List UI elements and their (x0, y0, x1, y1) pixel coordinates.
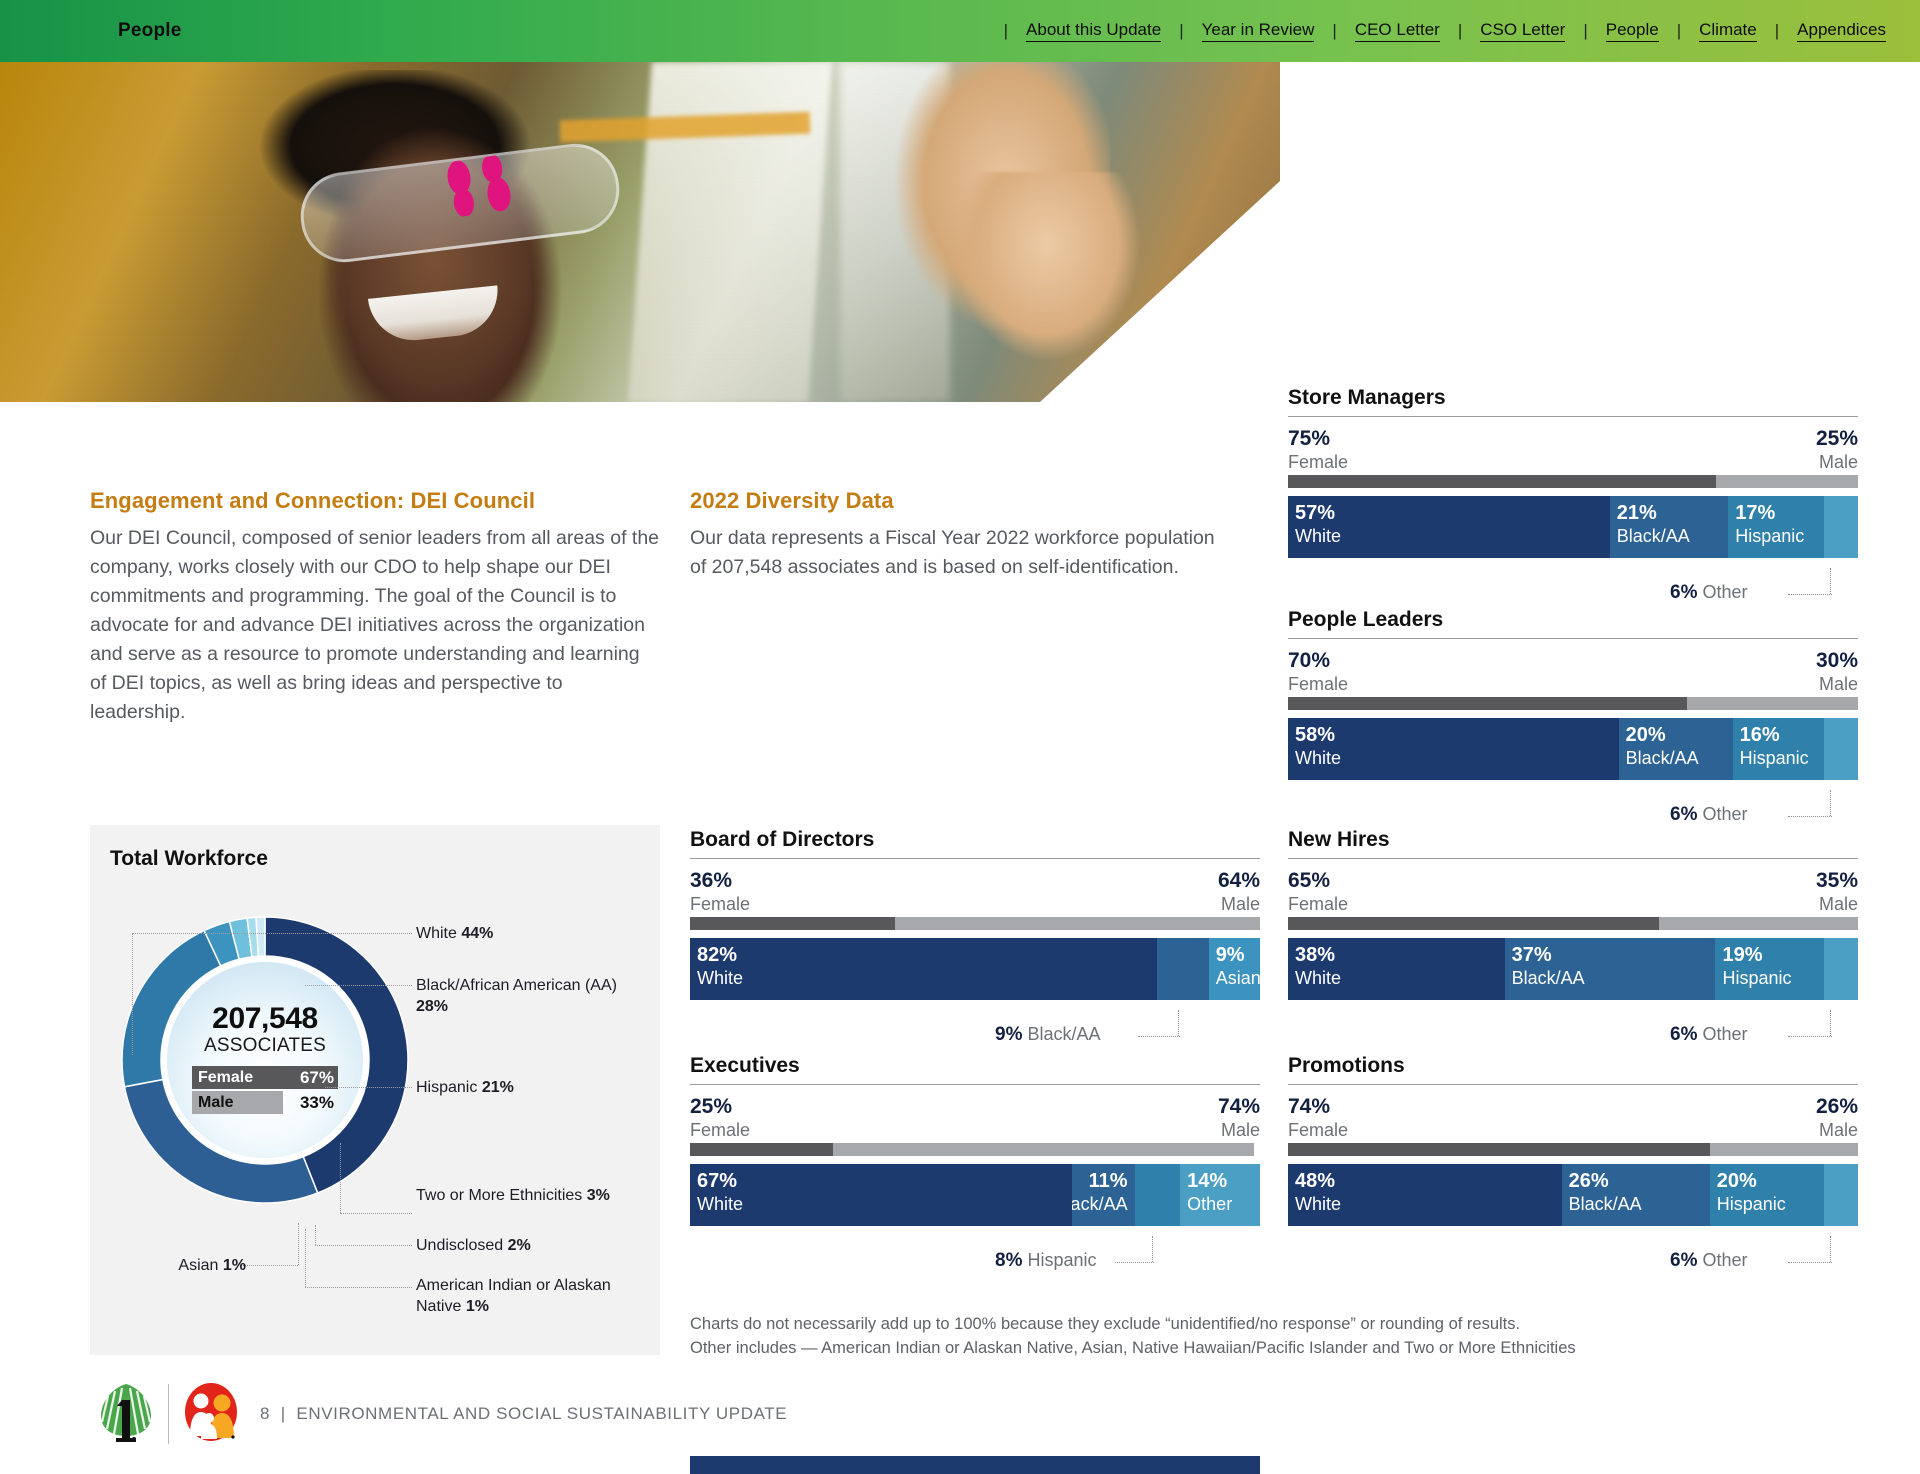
board-gender-bar-female (690, 917, 895, 930)
store-managers-male-pct: 25% (1816, 427, 1858, 451)
store-managers-gender-bar-male (1716, 475, 1859, 488)
people-leaders-black-aa-label: Black/AA (1626, 747, 1699, 769)
footer-page-number: 8 (260, 1404, 270, 1423)
executives-callout-line (1115, 1262, 1154, 1263)
pie-label-two-or-more: Two or More Ethnicities 3% (416, 1185, 616, 1206)
new-hires-gender-bar-male (1659, 917, 1859, 930)
new-hires-segment-white: 38% White (1288, 938, 1505, 1000)
board-female-label: Female (690, 893, 750, 915)
executives-gender-bar-male (833, 1143, 1255, 1156)
store-managers-callout-vline (1830, 568, 1831, 594)
gender-row-male: Male 33% (192, 1091, 338, 1114)
diversity-data-body: Our data represents a Fiscal Year 2022 w… (690, 524, 1220, 582)
new-hires-ethnicity-bar: 38% White 37% Black/AA 19% Hispanic (1288, 938, 1858, 1000)
promotions-ethnicity-bar: 48% White 26% Black/AA 20% Hispanic (1288, 1164, 1858, 1226)
promotions-segment-white: 48% White (1288, 1164, 1562, 1226)
promotions-female: 74% Female (1288, 1095, 1348, 1141)
promotions-gender-header: 74% Female 26% Male (1288, 1095, 1858, 1143)
new-hires-hispanic-label: Hispanic (1722, 967, 1791, 989)
people-leaders-segment-black-aa: 20% Black/AA (1619, 718, 1733, 780)
nav-separator: | (1677, 21, 1681, 41)
leader-line-hispanic (325, 1087, 412, 1088)
people-leaders-gender-header: 70% Female 30% Male (1288, 649, 1858, 697)
people-leaders-male-pct: 30% (1816, 649, 1858, 673)
people-leaders-black-aa-pct: 20% (1626, 724, 1666, 746)
executives-male-pct: 74% (1218, 1095, 1260, 1119)
total-workforce-panel: Total Workforce 207,548 ASSOCIATES Femal… (90, 825, 660, 1355)
board-gender-header: 36% Female 64% Male (690, 869, 1260, 917)
new-hires-male: 35% Male (1816, 869, 1858, 915)
board-female-pct: 36% (690, 869, 750, 893)
people-leaders-hispanic-label: Hispanic (1740, 747, 1809, 769)
store-managers-gender-header: 75% Female 25% Male (1288, 427, 1858, 475)
pie-label-asian: Asian 1% (156, 1255, 246, 1276)
page-footer: 8 | ENVIRONMENTAL AND SOCIAL SUSTAINABIL… (0, 1374, 1920, 1474)
executives-gender-bar (690, 1143, 1260, 1156)
nav-separator: | (1004, 21, 1008, 41)
divider (690, 1084, 1260, 1085)
new-hires-white-pct: 38% (1295, 944, 1335, 966)
promotions-callout-line (1788, 1262, 1832, 1263)
store-managers-callout: 6% Other (1670, 582, 1748, 604)
pie-label-white: White 44% (416, 923, 646, 944)
promotions-gender-bar-female (1288, 1143, 1710, 1156)
new-hires-black-aa-pct: 37% (1512, 944, 1552, 966)
pie-label-black-aa-value: 28% (416, 998, 448, 1015)
promotions-segment-other (1824, 1164, 1858, 1226)
leader-line-undisclosed (315, 1245, 412, 1246)
pie-label-hispanic-value: 21% (482, 1079, 514, 1096)
store-managers-female: 75% Female (1288, 427, 1348, 473)
executives-title: Executives (690, 1054, 1260, 1078)
promotions-white-label: White (1295, 1193, 1341, 1215)
leader-line-two-or-more (340, 1213, 412, 1214)
promotions-callout-pct: 6% (1670, 1250, 1697, 1271)
people-leaders-gender-bar (1288, 697, 1858, 710)
store-managers-gender-bar-female (1288, 475, 1716, 488)
people-leaders-callout-pct: 6% (1670, 804, 1697, 825)
nav-links: | About this Update | Year in Review | C… (996, 20, 1896, 42)
store-managers-white-label: White (1295, 525, 1341, 547)
people-leaders-segment-white: 58% White (1288, 718, 1619, 780)
pie-label-asian-value: 1% (223, 1257, 246, 1274)
board-male-label: Male (1218, 893, 1260, 915)
footer-accent-bar (690, 1456, 1260, 1474)
promotions-segment-black-aa: 26% Black/AA (1562, 1164, 1710, 1226)
people-leaders-male: 30% Male (1816, 649, 1858, 695)
people-leaders-male-label: Male (1816, 673, 1858, 695)
promotions-gender-bar (1288, 1143, 1858, 1156)
nav-separator: | (1775, 21, 1779, 41)
new-hires-callout-label: Other (1702, 1024, 1747, 1044)
executives-callout-label: Hispanic (1027, 1250, 1096, 1270)
new-hires-male-pct: 35% (1816, 869, 1858, 893)
pie-label-black-aa: Black/African American (AA) 28% (416, 975, 631, 1017)
leader-line-asian-vertical (298, 1223, 299, 1265)
footer-separator: | (281, 1404, 286, 1423)
nav-separator: | (1458, 21, 1462, 41)
executives-segment-hispanic (1135, 1164, 1181, 1226)
store-managers-hispanic-pct: 17% (1735, 502, 1775, 524)
executives-other-pct: 14% (1187, 1170, 1227, 1192)
executives-callout-vline (1152, 1236, 1153, 1262)
new-hires-callout-pct: 6% (1670, 1024, 1697, 1045)
new-hires-title: New Hires (1288, 828, 1858, 852)
new-hires-segment-black-aa: 37% Black/AA (1505, 938, 1716, 1000)
store-managers-callout-pct: 6% (1670, 582, 1697, 603)
executives-white-pct: 67% (697, 1170, 737, 1192)
leader-line-white-vertical (132, 933, 133, 1055)
promotions-male-label: Male (1816, 1119, 1858, 1141)
people-leaders-white-pct: 58% (1295, 724, 1335, 746)
new-hires-callout-line (1788, 1036, 1832, 1037)
people-leaders-female-pct: 70% (1288, 649, 1348, 673)
people-leaders-gender-bar-female (1288, 697, 1687, 710)
board-callout-pct: 9% (995, 1024, 1022, 1045)
store-managers-male: 25% Male (1816, 427, 1858, 473)
executives-white-label: White (697, 1193, 743, 1215)
people-leaders-female: 70% Female (1288, 649, 1348, 695)
pie-label-undisclosed-value: 2% (508, 1237, 531, 1254)
store-managers-black-aa-pct: 21% (1617, 502, 1657, 524)
executives-black-aa-pct: 11% (1089, 1170, 1128, 1192)
store-managers-segment-other (1824, 496, 1858, 558)
hero-worker-arm (955, 172, 1185, 402)
promotions-female-pct: 74% (1288, 1095, 1348, 1119)
footnote-line-2: Other includes — American Indian or Alas… (690, 1336, 1690, 1360)
donut-center-label: 207,548 ASSOCIATES Female 67% Male 33% (167, 962, 363, 1158)
nav-brand-label: People (118, 20, 182, 42)
nav-separator: | (1332, 21, 1336, 41)
pie-label-asian-name: Asian (178, 1257, 218, 1274)
board-of-directors-block: Board of Directors 36% Female 64% Male 8… (690, 828, 1260, 1000)
family-logo-icon (182, 1382, 240, 1444)
nav-link-year-in-review[interactable]: Year in Review (1202, 20, 1315, 42)
pie-label-american-indian: American Indian or Alaskan Native 1% (416, 1275, 621, 1317)
board-segment-asian: 9% Asian (1209, 938, 1260, 1000)
people-leaders-callout-label: Other (1702, 804, 1747, 824)
executives-ethnicity-bar: 67% White 11% Black/AA 14% Other (690, 1164, 1260, 1226)
board-segment-white: 82% White (690, 938, 1157, 1000)
new-hires-male-label: Male (1816, 893, 1858, 915)
leader-line-black-aa (305, 985, 412, 986)
nav-link-cso-letter[interactable]: CSO Letter (1480, 20, 1565, 42)
board-white-label: White (697, 967, 743, 989)
nav-link-appendices[interactable]: Appendices (1797, 20, 1886, 42)
board-segment-black-aa (1157, 938, 1208, 1000)
executives-segment-black-aa: 11% Black/AA (1072, 1164, 1135, 1226)
new-hires-gender-header: 65% Female 35% Male (1288, 869, 1858, 917)
pie-label-two-or-more-value: 3% (587, 1187, 610, 1204)
pink-bow-decoration (444, 154, 513, 218)
people-leaders-female-label: Female (1288, 673, 1348, 695)
executives-gender-header: 25% Female 74% Male (690, 1095, 1260, 1143)
promotions-segment-hispanic: 20% Hispanic (1710, 1164, 1824, 1226)
new-hires-female-pct: 65% (1288, 869, 1348, 893)
store-managers-female-pct: 75% (1288, 427, 1348, 451)
nav-link-climate[interactable]: Climate (1699, 20, 1757, 42)
people-leaders-white-label: White (1295, 747, 1341, 769)
promotions-male-pct: 26% (1816, 1095, 1858, 1119)
store-managers-female-label: Female (1288, 451, 1348, 473)
nav-link-people[interactable]: People (1606, 20, 1659, 42)
gender-row-female: Female 67% (192, 1066, 338, 1089)
donut-slice (256, 917, 265, 956)
store-managers-title: Store Managers (1288, 386, 1858, 410)
executives-segment-other: 14% Other (1180, 1164, 1260, 1226)
dei-council-body: Our DEI Council, composed of senior lead… (90, 524, 660, 727)
new-hires-white-label: White (1295, 967, 1341, 989)
executives-male: 74% Male (1218, 1095, 1260, 1141)
board-callout-line (1138, 1036, 1180, 1037)
board-gender-bar (690, 917, 1260, 930)
store-managers-gender-bar (1288, 475, 1858, 488)
divider (1288, 1084, 1858, 1085)
female-label: Female (192, 1069, 253, 1087)
executives-female-pct: 25% (690, 1095, 750, 1119)
store-managers-callout-line (1788, 594, 1832, 595)
leader-line-american-indian (305, 1287, 412, 1288)
board-gender-bar-male (895, 917, 1260, 930)
executives-gender-bar-female (690, 1143, 833, 1156)
new-hires-female-label: Female (1288, 893, 1348, 915)
people-leaders-segment-hispanic: 16% Hispanic (1733, 718, 1824, 780)
chart-footnotes: Charts do not necessarily add up to 100%… (690, 1312, 1690, 1360)
board-callout-label: Black/AA (1027, 1024, 1100, 1044)
promotions-white-pct: 48% (1295, 1170, 1335, 1192)
executives-block: Executives 25% Female 74% Male 67% White… (690, 1054, 1260, 1226)
total-workforce-donut: 207,548 ASSOCIATES Female 67% Male 33% (120, 915, 410, 1205)
divider (1288, 638, 1858, 639)
new-hires-gender-bar (1288, 917, 1858, 930)
nav-link-ceo-letter[interactable]: CEO Letter (1355, 20, 1440, 42)
top-navigation-bar: People | About this Update | Year in Rev… (0, 0, 1920, 62)
store-managers-hispanic-label: Hispanic (1735, 525, 1804, 547)
new-hires-block: New Hires 65% Female 35% Male 38% White … (1288, 828, 1858, 1000)
executives-male-label: Male (1218, 1119, 1260, 1141)
gender-breakdown: Female 67% Male 33% (192, 1066, 338, 1116)
people-leaders-block: People Leaders 70% Female 30% Male 58% W… (1288, 608, 1858, 780)
footnote-line-1: Charts do not necessarily add up to 100%… (690, 1312, 1690, 1336)
leader-line-asian (240, 1265, 298, 1266)
board-callout-vline (1178, 1010, 1179, 1036)
nav-separator: | (1179, 21, 1183, 41)
people-leaders-title: People Leaders (1288, 608, 1858, 632)
executives-female: 25% Female (690, 1095, 750, 1141)
pie-label-american-indian-name: American Indian or Alaskan Native (416, 1277, 611, 1315)
male-label: Male (192, 1094, 234, 1112)
pie-label-undisclosed: Undisclosed 2% (416, 1235, 631, 1256)
leader-line-american-indian-vertical (305, 1229, 306, 1287)
new-hires-black-aa-label: Black/AA (1512, 967, 1585, 989)
tree-logo-icon (98, 1382, 154, 1444)
board-ethnicity-bar: 82% White 9% Asian (690, 938, 1260, 1000)
divider (690, 858, 1260, 859)
promotions-hispanic-label: Hispanic (1717, 1193, 1786, 1215)
store-managers-callout-label: Other (1702, 582, 1747, 602)
new-hires-hispanic-pct: 19% (1722, 944, 1762, 966)
leader-line-two-or-more-vertical (340, 1143, 341, 1213)
executives-other-label: Other (1187, 1193, 1232, 1215)
promotions-gender-bar-male (1710, 1143, 1858, 1156)
store-managers-black-aa-label: Black/AA (1617, 525, 1690, 547)
divider (1288, 858, 1858, 859)
promotions-block: Promotions 74% Female 26% Male 48% White… (1288, 1054, 1858, 1226)
executives-black-aa-label: Black/AA (1072, 1193, 1128, 1215)
store-managers-white-pct: 57% (1295, 502, 1335, 524)
leader-line-white (132, 933, 412, 934)
new-hires-segment-other (1824, 938, 1858, 1000)
new-hires-segment-hispanic: 19% Hispanic (1715, 938, 1823, 1000)
total-workforce-title: Total Workforce (110, 847, 268, 871)
report-page: People | About this Update | Year in Rev… (0, 0, 1920, 1474)
people-leaders-callout-vline (1830, 790, 1831, 816)
people-leaders-hispanic-pct: 16% (1740, 724, 1780, 746)
board-white-pct: 82% (697, 944, 737, 966)
promotions-female-label: Female (1288, 1119, 1348, 1141)
new-hires-gender-bar-female (1288, 917, 1659, 930)
people-leaders-ethnicity-bar: 58% White 20% Black/AA 16% Hispanic (1288, 718, 1858, 780)
divider (1288, 416, 1858, 417)
store-managers-ethnicity-bar: 57% White 21% Black/AA 17% Hispanic (1288, 496, 1858, 558)
board-male: 64% Male (1218, 869, 1260, 915)
diversity-data-heading: 2022 Diversity Data (690, 488, 1230, 514)
pie-label-white-name: White (416, 925, 457, 942)
pie-label-undisclosed-name: Undisclosed (416, 1237, 503, 1254)
store-managers-segment-hispanic: 17% Hispanic (1728, 496, 1824, 558)
new-hires-callout: 6% Other (1670, 1024, 1748, 1046)
male-value: 33% (300, 1093, 338, 1113)
promotions-title: Promotions (1288, 1054, 1858, 1078)
promotions-black-aa-label: Black/AA (1569, 1193, 1642, 1215)
promotions-callout: 6% Other (1670, 1250, 1748, 1272)
new-hires-callout-vline (1830, 1010, 1831, 1036)
executives-callout-pct: 8% (995, 1250, 1022, 1271)
footer-caption: 8 | ENVIRONMENTAL AND SOCIAL SUSTAINABIL… (260, 1404, 787, 1424)
promotions-callout-label: Other (1702, 1250, 1747, 1270)
new-hires-female: 65% Female (1288, 869, 1348, 915)
promotions-callout-vline (1830, 1236, 1831, 1262)
pie-label-black-aa-name: Black/African American (AA) (416, 977, 617, 994)
logo-divider (168, 1384, 169, 1444)
pie-label-white-value: 44% (461, 925, 493, 942)
store-managers-segment-black-aa: 21% Black/AA (1610, 496, 1729, 558)
female-value: 67% (300, 1068, 338, 1088)
dei-council-heading: Engagement and Connection: DEI Council (90, 488, 650, 514)
people-leaders-callout-line (1788, 816, 1832, 817)
board-asian-pct: 9% (1216, 944, 1245, 966)
people-leaders-segment-other (1824, 718, 1858, 780)
footer-title: ENVIRONMENTAL AND SOCIAL SUSTAINABILITY … (296, 1404, 787, 1423)
pie-label-hispanic-name: Hispanic (416, 1079, 477, 1096)
associates-caption: ASSOCIATES (204, 1035, 326, 1057)
board-callout: 9% Black/AA (995, 1024, 1101, 1046)
promotions-hispanic-pct: 20% (1717, 1170, 1757, 1192)
pie-label-two-or-more-name: Two or More Ethnicities (416, 1187, 582, 1204)
people-leaders-callout: 6% Other (1670, 804, 1748, 826)
store-managers-segment-white: 57% White (1288, 496, 1610, 558)
nav-separator: | (1583, 21, 1587, 41)
board-female: 36% Female (690, 869, 750, 915)
pie-label-american-indian-value: 1% (466, 1298, 489, 1315)
pie-label-hispanic: Hispanic 21% (416, 1077, 631, 1098)
executives-callout: 8% Hispanic (995, 1250, 1097, 1272)
hero-photo (0, 62, 1280, 402)
board-asian-label: Asian (1216, 967, 1260, 989)
executives-segment-white: 67% White (690, 1164, 1072, 1226)
board-male-pct: 64% (1218, 869, 1260, 893)
leader-line-undisclosed-vertical (315, 1225, 316, 1245)
associates-count: 207,548 (212, 1004, 318, 1034)
executives-female-label: Female (690, 1119, 750, 1141)
people-leaders-gender-bar-male (1687, 697, 1858, 710)
store-managers-block: Store Managers 75% Female 25% Male 57% W… (1288, 386, 1858, 558)
board-of-directors-title: Board of Directors (690, 828, 1260, 852)
promotions-male: 26% Male (1816, 1095, 1858, 1141)
promotions-black-aa-pct: 26% (1569, 1170, 1609, 1192)
store-managers-male-label: Male (1816, 451, 1858, 473)
nav-link-about-this-update[interactable]: About this Update (1026, 20, 1161, 42)
